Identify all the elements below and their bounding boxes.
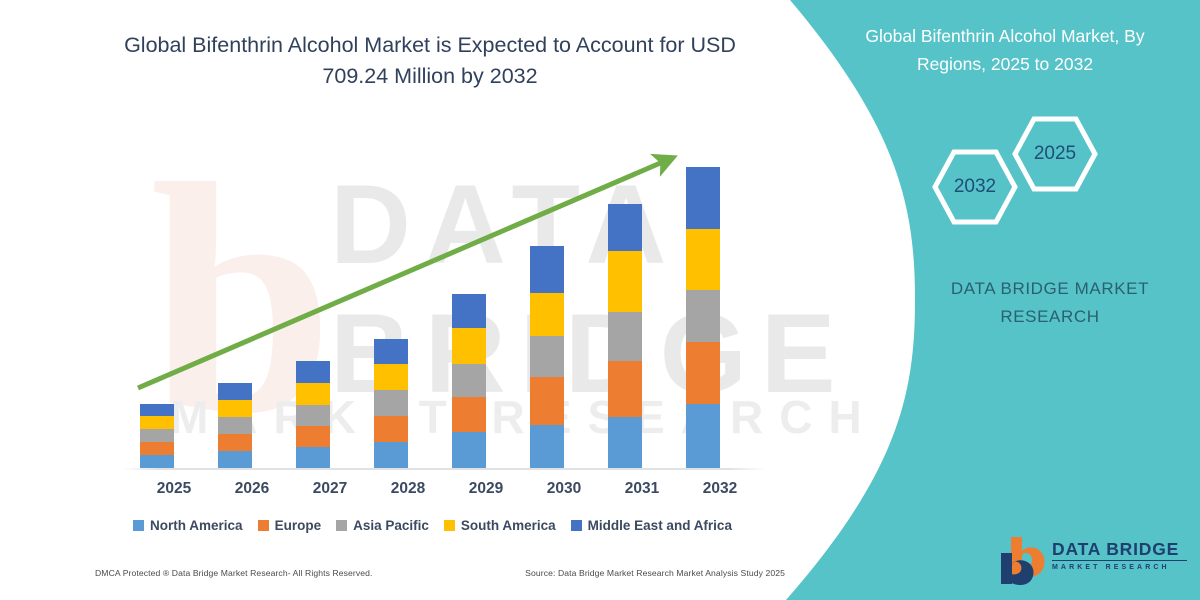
- bar-segment: [608, 251, 642, 312]
- stacked-bar: [140, 404, 174, 468]
- bar-segment: [530, 246, 564, 293]
- stacked-bar: [452, 294, 486, 468]
- bar-segment: [374, 364, 408, 390]
- stacked-bar: [374, 339, 408, 468]
- bar-segment: [452, 328, 486, 364]
- legend-item[interactable]: Middle East and Africa: [571, 518, 732, 533]
- panel-title: Global Bifenthrin Alcohol Market, By Reg…: [830, 22, 1180, 78]
- bar-segment: [530, 336, 564, 377]
- legend-swatch-icon: [336, 520, 347, 531]
- bar-segment: [374, 442, 408, 468]
- bar-segment: [686, 167, 720, 229]
- bar-segment: [296, 361, 330, 383]
- bar-segment: [608, 417, 642, 468]
- x-axis-label-2029: 2029: [446, 480, 526, 498]
- x-axis-label-2030: 2030: [524, 480, 604, 498]
- bar-group-2028: [374, 339, 408, 468]
- x-axis-label-2025: 2025: [134, 480, 214, 498]
- bar-segment: [296, 426, 330, 447]
- bar-segment: [686, 229, 720, 290]
- bar-group-2027: [296, 361, 330, 468]
- bar-group-2026: [218, 383, 252, 468]
- bar-segment: [218, 434, 252, 451]
- bar-segment: [374, 339, 408, 364]
- bar-segment: [530, 293, 564, 336]
- bar-segment: [140, 404, 174, 416]
- hexagon-badge-2032: 2032: [932, 148, 1018, 226]
- legend-swatch-icon: [571, 520, 582, 531]
- logo-name: DATA BRIDGE: [1052, 540, 1187, 559]
- bar-segment: [140, 416, 174, 429]
- bar-segment: [452, 364, 486, 397]
- bar-segment: [296, 383, 330, 405]
- x-axis-label-2028: 2028: [368, 480, 448, 498]
- bar-segment: [296, 447, 330, 468]
- legend-swatch-icon: [133, 520, 144, 531]
- legend-label: Europe: [275, 518, 322, 533]
- bar-group-2029: [452, 294, 486, 468]
- stacked-bar: [218, 383, 252, 468]
- hexagon-label-end: 2025: [1034, 143, 1076, 165]
- legend-item[interactable]: Asia Pacific: [336, 518, 429, 533]
- footer-source: Source: Data Bridge Market Research Mark…: [525, 568, 785, 578]
- bar-segment: [530, 425, 564, 468]
- chart-legend: North AmericaEuropeAsia PacificSouth Ame…: [100, 518, 765, 533]
- bar-segment: [452, 294, 486, 328]
- bar-segment: [608, 312, 642, 361]
- legend-item[interactable]: South America: [444, 518, 556, 533]
- x-axis-label-2031: 2031: [602, 480, 682, 498]
- bar-segment: [140, 455, 174, 468]
- data-bridge-logo-text: DATA BRIDGE MARKET RESEARCH: [1052, 540, 1187, 573]
- legend-label: South America: [461, 518, 556, 533]
- bar-segment: [452, 397, 486, 432]
- stacked-bar-chart: 20252026202720282029203020312032: [100, 120, 780, 480]
- legend-item[interactable]: Europe: [258, 518, 322, 533]
- x-axis-label-2026: 2026: [212, 480, 292, 498]
- legend-label: North America: [150, 518, 243, 533]
- bar-segment: [218, 383, 252, 400]
- x-axis-line: [122, 468, 767, 470]
- footer: DMCA Protected ® Data Bridge Market Rese…: [95, 568, 785, 578]
- bar-segment: [452, 432, 486, 468]
- hexagon-badge-2025: 2025: [1012, 115, 1098, 193]
- legend-swatch-icon: [444, 520, 455, 531]
- bar-segment: [686, 404, 720, 468]
- bar-segment: [218, 417, 252, 434]
- x-axis-label-2027: 2027: [290, 480, 370, 498]
- bar-segment: [608, 204, 642, 251]
- bar-segment: [374, 416, 408, 442]
- stacked-bar: [608, 204, 642, 468]
- hexagon-label-start: 2032: [954, 176, 996, 198]
- bar-group-2031: [608, 204, 642, 468]
- bar-segment: [374, 390, 408, 416]
- bar-group-2030: [530, 246, 564, 468]
- legend-label: Middle East and Africa: [588, 518, 732, 533]
- bar-segment: [140, 429, 174, 442]
- bar-segment: [686, 290, 720, 342]
- bar-segment: [218, 451, 252, 468]
- stacked-bar: [296, 361, 330, 468]
- legend-item[interactable]: North America: [133, 518, 243, 533]
- stacked-bar: [686, 167, 720, 468]
- bar-segment: [140, 442, 174, 455]
- stacked-bar: [530, 246, 564, 468]
- bar-segment: [530, 377, 564, 425]
- logo-subtitle: MARKET RESEARCH: [1052, 560, 1187, 573]
- bar-segment: [296, 405, 330, 426]
- legend-swatch-icon: [258, 520, 269, 531]
- bar-segment: [686, 342, 720, 404]
- x-axis-label-2032: 2032: [680, 480, 760, 498]
- page-title: Global Bifenthrin Alcohol Market is Expe…: [100, 30, 760, 92]
- bar-group-2025: [140, 404, 174, 468]
- bar-group-2032: [686, 167, 720, 468]
- bar-segment: [218, 400, 252, 417]
- legend-label: Asia Pacific: [353, 518, 429, 533]
- bar-segment: [608, 361, 642, 417]
- panel-brand-text: DATA BRIDGE MARKET RESEARCH: [900, 275, 1200, 331]
- footer-copyright: DMCA Protected ® Data Bridge Market Rese…: [95, 568, 373, 578]
